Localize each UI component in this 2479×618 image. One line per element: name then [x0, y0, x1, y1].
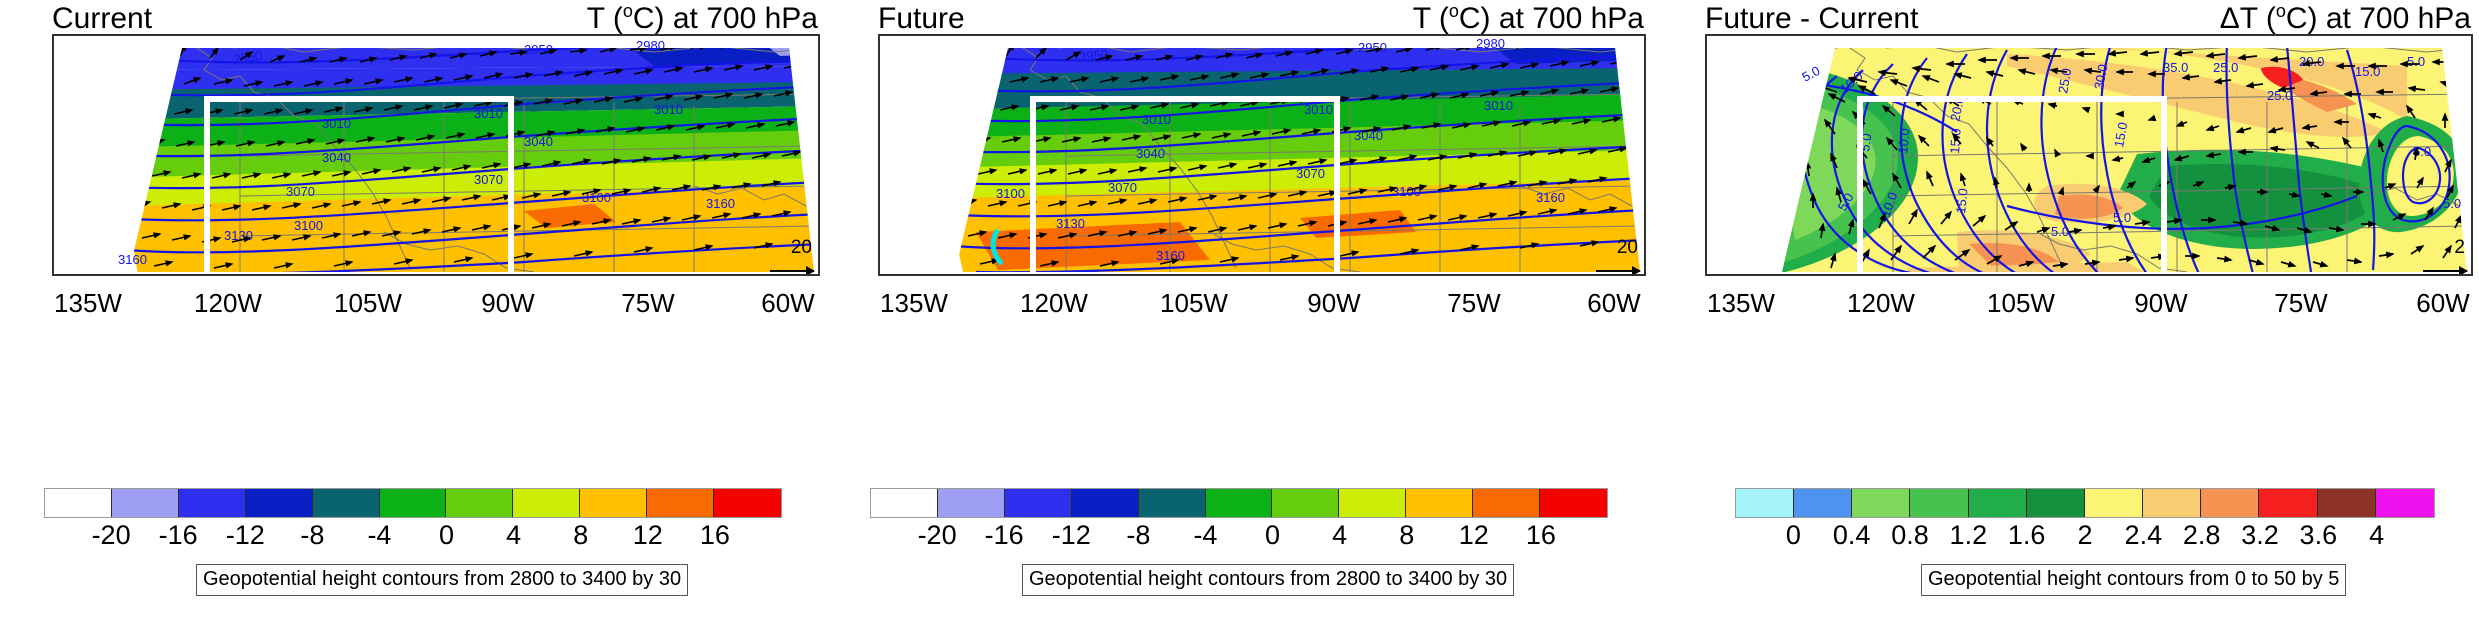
figure-root: Current T (oC) at 700 hPa [0, 0, 2479, 617]
svg-text:3160: 3160 [1536, 190, 1565, 205]
colorbar-tick-label: 3.2 [2241, 520, 2279, 551]
xtick-minor [1406, 274, 1408, 276]
xtick-minor [1953, 274, 1955, 276]
highlight-region-box [1030, 96, 1340, 276]
xtick-135W [90, 274, 92, 276]
colorbar-cell [246, 489, 313, 517]
map-plot-area: 2950 2950 2980 3010 3010 3010 3040 3040 … [878, 34, 1646, 276]
panel-title-left: Future [878, 2, 965, 36]
xtick-75W [1476, 274, 1478, 276]
svg-text:3010: 3010 [654, 102, 683, 117]
highlight-region-box [1857, 96, 2167, 276]
colorbar-cell [2376, 489, 2434, 517]
xtick-90W [2163, 274, 2165, 276]
colorbar-cell [446, 489, 513, 517]
panel-title-left: Current [52, 2, 152, 36]
colorbar-cell [1406, 489, 1473, 517]
ytick-50N [1705, 76, 1707, 78]
colorbar-future: -20-16-12-8-40481216 Geopotential height… [826, 488, 1652, 618]
colorbar-cell [714, 489, 781, 517]
colorbar-tick-label: -8 [1126, 520, 1150, 551]
panel-current: Current T (oC) at 700 hPa [0, 0, 826, 617]
svg-text:35.0: 35.0 [2163, 60, 2188, 75]
xtick-minor [440, 274, 442, 276]
xtick-105W [370, 274, 372, 276]
colorbar-tick-label: 0 [1265, 520, 1280, 551]
colorbar-tick-label: 2.8 [2183, 520, 2221, 551]
ytick-minor [1705, 106, 1707, 108]
colorbar-tick-label: -20 [918, 520, 957, 551]
colorbar-tick-label: 4 [2369, 520, 2384, 551]
ytick-50N [878, 76, 880, 78]
xtick-60W [2443, 274, 2445, 276]
colorbar-tick-label: -12 [226, 520, 265, 551]
xtick-75W [650, 274, 652, 276]
colorbar-tick-label: 2 [2077, 520, 2092, 551]
colorbar-cell [1005, 489, 1072, 517]
colorbar-cell [112, 489, 179, 517]
ytick-20N [52, 256, 54, 258]
xlabel-105W: 105W [1160, 288, 1228, 319]
colorbar-tick-label: 1.2 [1950, 520, 1988, 551]
colorbar-cell [1794, 489, 1852, 517]
ytick-minor [52, 106, 54, 108]
svg-text:5.0: 5.0 [2443, 196, 2461, 211]
colorbar-tick-label: -12 [1052, 520, 1091, 551]
xlabel-60W: 60W [761, 288, 814, 319]
xlabel-135W: 135W [1707, 288, 1775, 319]
xtick-minor [986, 274, 988, 276]
xlabel-75W: 75W [1447, 288, 1500, 319]
title-unit: C) at 700 hPa [633, 2, 818, 35]
ytick-20N [878, 256, 880, 258]
xlabel-105W: 105W [1987, 288, 2055, 319]
title-var: ΔT ( [2220, 2, 2276, 35]
xlabel-90W: 90W [481, 288, 534, 319]
colorbar-tick-label: 0.8 [1891, 520, 1929, 551]
colorbar-tick-label: 16 [1526, 520, 1556, 551]
colorbar-ticks: 00.40.81.21.622.42.83.23.64 [1735, 520, 2435, 554]
svg-text:3010: 3010 [1484, 98, 1513, 113]
colorbar-current: -20-16-12-8-40481216 Geopotential height… [0, 488, 826, 618]
colorbar-tick-label: 1.6 [2008, 520, 2046, 551]
xtick-135W [1743, 274, 1745, 276]
colorbar-tick-label: 12 [1459, 520, 1489, 551]
xtick-minor [2233, 274, 2235, 276]
ytick-30N [878, 196, 880, 198]
contour-note: Geopotential height contours from 0 to 5… [1921, 564, 2346, 596]
colorbar-strip [44, 488, 782, 518]
ytick-minor [52, 166, 54, 168]
colorbar-tick-label: -20 [92, 520, 131, 551]
map-plot-area: 2950 2950 2980 3010 3010 3010 3040 3040 … [52, 34, 820, 276]
xlabel-90W: 90W [2134, 288, 2187, 319]
colorbar-cell [513, 489, 580, 517]
xtick-minor [2093, 274, 2095, 276]
ytick-30N [1705, 196, 1707, 198]
title-var: T ( [1413, 2, 1449, 35]
xlabel-60W: 60W [2416, 288, 2469, 319]
svg-text:3100: 3100 [996, 186, 1025, 201]
colorbar-tick-label: 8 [1399, 520, 1414, 551]
svg-text:5.0: 5.0 [2407, 54, 2425, 69]
svg-text:2950: 2950 [1358, 40, 1387, 55]
colorbar-tick-label: 0.4 [1833, 520, 1871, 551]
colorbar-cell [871, 489, 938, 517]
wind-vector-key: 20 [1596, 270, 1640, 272]
xtick-minor [2373, 274, 2375, 276]
colorbar-cell [45, 489, 112, 517]
colorbar-cell [2143, 489, 2201, 517]
panel-title-right: T (oC) at 700 hPa [587, 2, 818, 36]
colorbar-cell [2259, 489, 2317, 517]
wind-vector-key: 20 [770, 270, 814, 272]
contour-note: Geopotential height contours from 2800 t… [196, 564, 688, 596]
ytick-40N [1705, 136, 1707, 138]
colorbar-tick-label: 3.6 [2300, 520, 2338, 551]
colorbar-cell [2201, 489, 2259, 517]
colorbar-cell [1969, 489, 2027, 517]
ytick-50N [52, 76, 54, 78]
ytick-minor [878, 226, 880, 228]
ytick-minor [52, 226, 54, 228]
xlabel-120W: 120W [1020, 288, 1088, 319]
colorbar-tick-label: 4 [506, 520, 521, 551]
svg-text:25.0: 25.0 [2213, 60, 2238, 75]
colorbar-tick-label: 2.4 [2125, 520, 2163, 551]
xtick-60W [790, 274, 792, 276]
ytick-20N [1705, 256, 1707, 258]
xlabel-135W: 135W [54, 288, 122, 319]
ytick-minor [1705, 166, 1707, 168]
panel-title-right: ΔT (oC) at 700 hPa [2220, 2, 2471, 36]
xlabel-105W: 105W [334, 288, 402, 319]
xlabel-90W: 90W [1307, 288, 1360, 319]
xtick-minor [1813, 274, 1815, 276]
colorbar-cell [1736, 489, 1794, 517]
colorbar-tick-label: -4 [1193, 520, 1217, 551]
ytick-minor [878, 106, 880, 108]
xtick-minor [1266, 274, 1268, 276]
panel-future: Future T (oC) at 700 hPa [826, 0, 1652, 617]
colorbar-cell [1473, 489, 1540, 517]
xtick-90W [510, 274, 512, 276]
colorbar-tick-label: 16 [700, 520, 730, 551]
title-var: T ( [587, 2, 623, 35]
colorbar-cell [313, 489, 380, 517]
map-plot-area: 5.0 10.0 5.0 10.0 15.0 20.0 5.0 10.0 15.… [1705, 34, 2473, 276]
xlabel-60W: 60W [1587, 288, 1640, 319]
highlight-region-box [204, 96, 514, 276]
colorbar-strip [870, 488, 1608, 518]
wind-vector-key-arrow [1596, 270, 1640, 272]
ytick-minor [878, 166, 880, 168]
colorbar-difference: 00.40.81.21.622.42.83.23.64 Geopotential… [1653, 488, 2479, 618]
wind-vector-key-value: 20 [791, 237, 812, 259]
xtick-120W [1883, 274, 1885, 276]
svg-text:3100: 3100 [1392, 184, 1421, 199]
colorbar-cell [380, 489, 447, 517]
colorbar-cell [647, 489, 714, 517]
title-unit: C) at 700 hPa [2286, 2, 2471, 35]
colorbar-cell [1339, 489, 1406, 517]
colorbar-strip [1735, 488, 2435, 518]
colorbar-tick-label: -16 [159, 520, 198, 551]
xtick-75W [2303, 274, 2305, 276]
colorbar-cell [1852, 489, 1910, 517]
svg-text:2980: 2980 [1476, 36, 1505, 51]
contour-note: Geopotential height contours from 2800 t… [1022, 564, 1514, 596]
colorbar-cell [2085, 489, 2143, 517]
colorbar-cell [179, 489, 246, 517]
colorbar-cell [580, 489, 647, 517]
svg-text:2980: 2980 [636, 38, 665, 53]
ytick-minor [878, 46, 880, 48]
panel-title-right: T (oC) at 700 hPa [1413, 2, 1644, 36]
svg-text:3160: 3160 [118, 252, 147, 267]
svg-text:5.0: 5.0 [1799, 63, 1822, 85]
xlabel-135W: 135W [880, 288, 948, 319]
ytick-minor [52, 46, 54, 48]
xtick-minor [1126, 274, 1128, 276]
degree-sup: o [1449, 1, 1459, 21]
colorbar-cell [2027, 489, 2085, 517]
xtick-minor [160, 274, 162, 276]
colorbar-tick-label: -8 [300, 520, 324, 551]
svg-text:2950: 2950 [524, 42, 553, 57]
ytick-30N [52, 196, 54, 198]
ytick-40N [878, 136, 880, 138]
degree-sup: o [2276, 1, 2286, 21]
colorbar-tick-label: 8 [573, 520, 588, 551]
xtick-minor [300, 274, 302, 276]
panel-title-left: Future - Current [1705, 2, 1918, 36]
xlabel-75W: 75W [2274, 288, 2327, 319]
colorbar-cell [2318, 489, 2376, 517]
xtick-120W [1056, 274, 1058, 276]
xtick-minor [720, 274, 722, 276]
wind-vector-key-value: 2 [2454, 237, 2465, 259]
colorbar-cell [1072, 489, 1139, 517]
colorbar-tick-label: -4 [367, 520, 391, 551]
xtick-minor [580, 274, 582, 276]
colorbar-ticks: -20-16-12-8-40481216 [870, 520, 1608, 554]
colorbar-cell [938, 489, 1005, 517]
colorbar-tick-label: 4 [1332, 520, 1347, 551]
wind-vector-key-value: 20 [1617, 237, 1638, 259]
colorbar-cell [1540, 489, 1607, 517]
ytick-minor [1705, 46, 1707, 48]
panel-difference: Future - Current ΔT (oC) at 700 hPa [1653, 0, 2479, 617]
wind-vector-key-arrow [770, 270, 814, 272]
wind-vector-key: 2 [2423, 270, 2467, 272]
title-unit: C) at 700 hPa [1459, 2, 1644, 35]
xlabel-120W: 120W [1847, 288, 1915, 319]
colorbar-cell [1139, 489, 1206, 517]
xtick-60W [1616, 274, 1618, 276]
xtick-105W [1196, 274, 1198, 276]
colorbar-tick-label: 0 [439, 520, 454, 551]
colorbar-tick-label: 12 [633, 520, 663, 551]
xtick-90W [1336, 274, 1338, 276]
degree-sup: o [623, 1, 633, 21]
wind-vector-key-arrow [2423, 270, 2467, 272]
xlabel-75W: 75W [621, 288, 674, 319]
xtick-minor [1546, 274, 1548, 276]
ytick-40N [52, 136, 54, 138]
colorbar-ticks: -20-16-12-8-40481216 [44, 520, 782, 554]
colorbar-tick-label: 0 [1786, 520, 1801, 551]
xtick-105W [2023, 274, 2025, 276]
colorbar-cell [1272, 489, 1339, 517]
svg-text:3160: 3160 [706, 196, 735, 211]
xtick-135W [916, 274, 918, 276]
colorbar-tick-label: -16 [985, 520, 1024, 551]
xlabel-120W: 120W [194, 288, 262, 319]
colorbar-cell [1910, 489, 1968, 517]
ytick-minor [1705, 226, 1707, 228]
xtick-120W [230, 274, 232, 276]
colorbar-cell [1206, 489, 1273, 517]
